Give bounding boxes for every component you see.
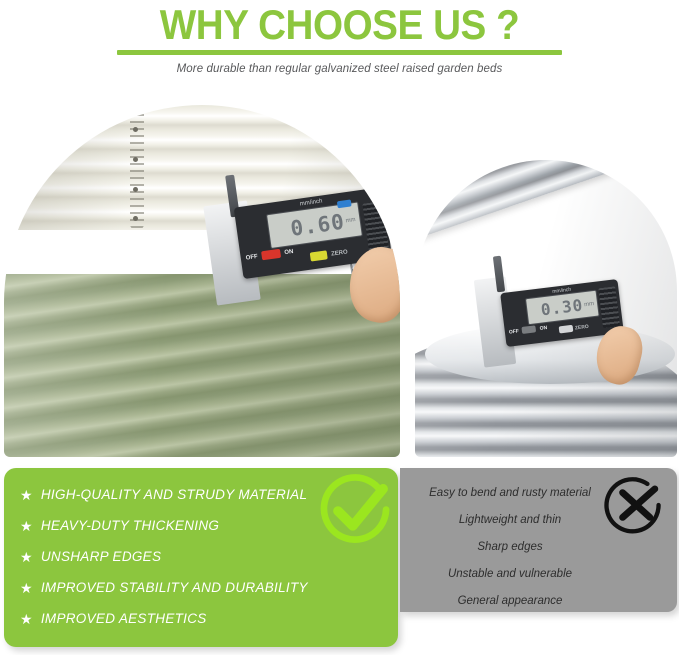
caliper-on-label: ON xyxy=(539,325,547,332)
list-item: Sharp edges xyxy=(408,534,612,561)
others-product-photo: mm/inch 0.30 mm OFF ON ZERO xyxy=(415,160,677,457)
star-icon: ★ xyxy=(20,581,33,595)
list-item: ★ IMPROVED AESTHETICS xyxy=(20,603,380,634)
list-item: Unstable and vulnerable xyxy=(408,561,612,588)
others-drawback-list: Easy to bend and rusty material Lightwei… xyxy=(408,480,612,615)
caliper-display: 0.60 mm xyxy=(266,201,363,249)
panel-seam xyxy=(130,107,144,230)
caliper-off-label: OFF xyxy=(509,328,520,335)
star-icon: ★ xyxy=(20,519,33,533)
photo-comparison-area: mm/inch 0.60 mm OFF ON ZERO xyxy=(0,92,679,460)
comparison-panels: ★ HIGH-QUALITY AND STRUDY MATERIAL ★ HEA… xyxy=(0,466,679,655)
caliper-off-button[interactable] xyxy=(521,325,536,334)
list-item: ★ IMPROVED STABILITY AND DURABILITY xyxy=(20,572,380,603)
caliper-grip xyxy=(598,286,620,328)
page-title: WHY CHOOSE US ? xyxy=(27,2,652,48)
caliper-zero-label: ZERO xyxy=(575,324,590,332)
caliper-zero-label: ZERO xyxy=(331,249,348,257)
caliper-display: 0.30 mm xyxy=(525,290,600,326)
feature-label: HEAVY-DUTY THICKENING xyxy=(41,518,219,533)
cross-icon xyxy=(604,474,666,536)
rivet xyxy=(133,157,138,162)
caliper-off-button[interactable] xyxy=(261,249,281,261)
rivet xyxy=(133,127,138,132)
header: WHY CHOOSE US ? More durable than regula… xyxy=(0,0,679,92)
caliper-reading-value: 0.30 xyxy=(540,295,585,319)
caliper-on-label: ON xyxy=(284,249,294,256)
star-icon: ★ xyxy=(20,612,33,626)
ours-features-panel: ★ HIGH-QUALITY AND STRUDY MATERIAL ★ HEA… xyxy=(4,468,398,647)
caliper-reading-unit: mm xyxy=(345,216,356,223)
star-icon: ★ xyxy=(20,550,33,564)
feature-label: UNSHARP EDGES xyxy=(41,549,161,564)
rivet xyxy=(133,216,138,221)
galvanized-strip xyxy=(415,160,677,248)
digital-caliper-ours: mm/inch 0.60 mm OFF ON ZERO xyxy=(200,177,400,309)
caliper-zero-button[interactable] xyxy=(310,250,328,261)
digital-caliper-others: mm/inch 0.30 mm OFF ON ZERO xyxy=(475,268,675,378)
caliper-reading-unit: mm xyxy=(584,301,595,308)
feature-label: IMPROVED AESTHETICS xyxy=(41,611,207,626)
title-underline-rule xyxy=(117,50,562,55)
page-subtitle: More durable than regular galvanized ste… xyxy=(0,63,679,75)
feature-label: IMPROVED STABILITY AND DURABILITY xyxy=(41,580,308,595)
caliper-off-label: OFF xyxy=(245,254,258,262)
rivet xyxy=(133,187,138,192)
others-drawbacks-panel: Easy to bend and rusty material Lightwei… xyxy=(400,468,677,612)
ours-product-photo: mm/inch 0.60 mm OFF ON ZERO xyxy=(4,105,400,457)
caliper-reading-value: 0.60 xyxy=(289,209,346,240)
star-icon: ★ xyxy=(20,488,33,502)
list-item: Lightweight and thin xyxy=(408,507,612,534)
feature-label: HIGH-QUALITY AND STRUDY MATERIAL xyxy=(41,487,307,502)
product-comparison-infographic: WHY CHOOSE US ? More durable than regula… xyxy=(0,0,679,655)
list-item: General appearance xyxy=(408,588,612,615)
list-item: Easy to bend and rusty material xyxy=(408,480,612,507)
caliper-zero-button[interactable] xyxy=(559,325,574,334)
checkmark-icon xyxy=(318,474,392,548)
